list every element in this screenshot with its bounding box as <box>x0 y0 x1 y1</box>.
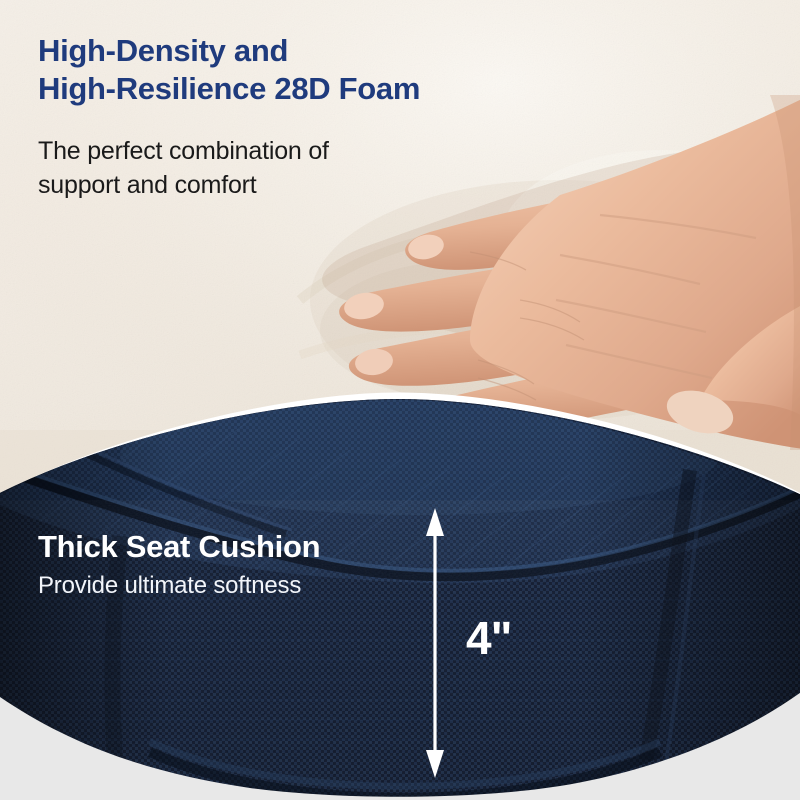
foam-subheading-line-2: support and comfort <box>38 171 257 199</box>
foam-subheading: The perfect combination ofsupport and co… <box>38 134 329 202</box>
foam-subheading-line-1: The perfect combination of <box>38 137 329 165</box>
foam-heading-line-1: High-Density and <box>38 33 288 68</box>
cushion-subtitle: Provide ultimate softness <box>38 570 301 602</box>
cushion-title: Thick Seat Cushion <box>38 528 320 566</box>
foam-heading-line-2: High-Resilience 28D Foam <box>38 71 420 106</box>
foam-heading: High-Density andHigh-Resilience 28D Foam <box>38 32 420 108</box>
infographic-canvas: High-Density andHigh-Resilience 28D Foam… <box>0 0 800 800</box>
dimension-label: 4" <box>466 612 511 664</box>
product-illustration <box>0 0 800 800</box>
